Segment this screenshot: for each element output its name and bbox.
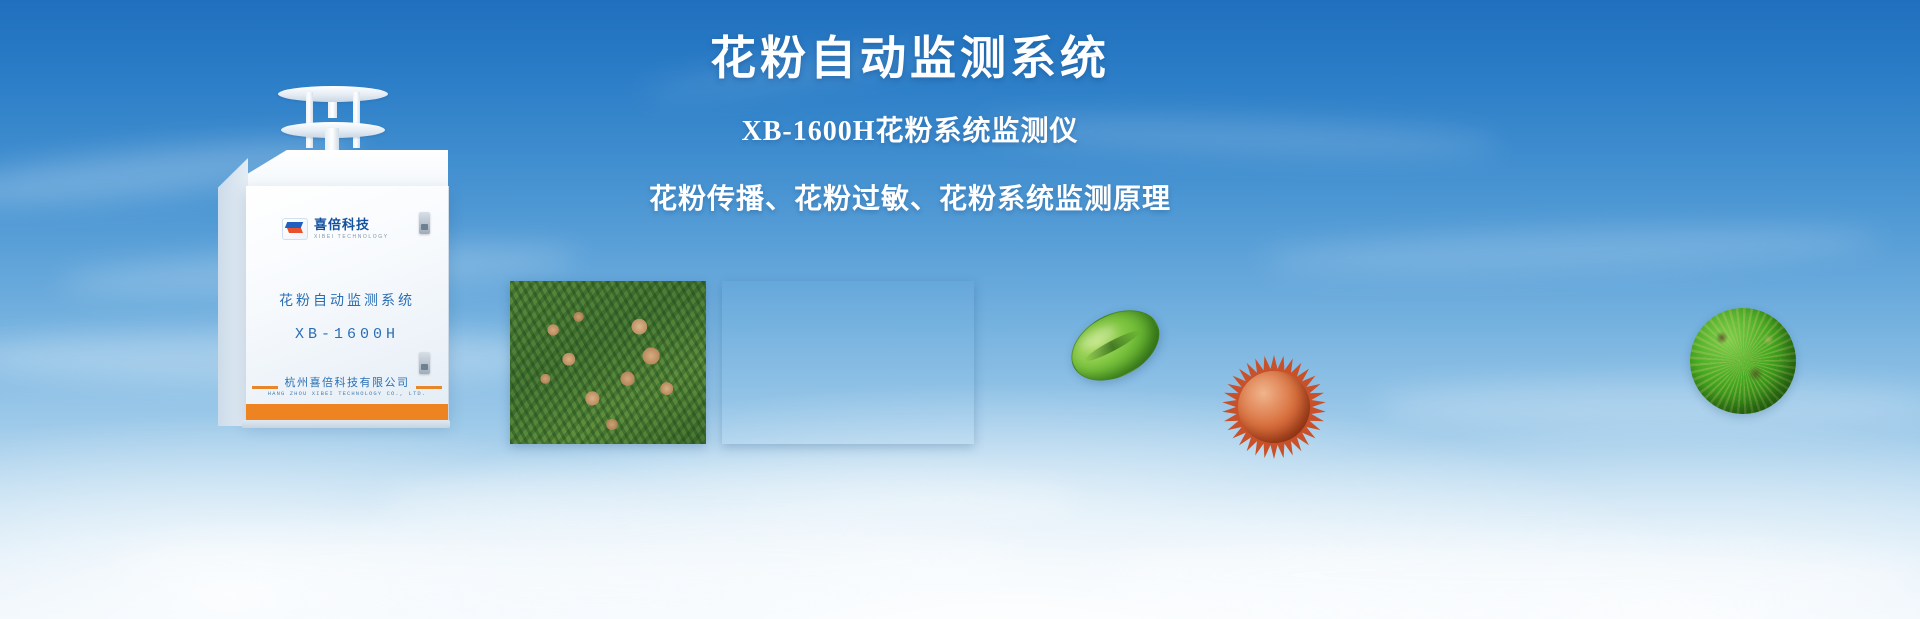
cloud-streak: [1100, 540, 1920, 610]
vent-post: [306, 92, 313, 148]
vent-center-nub: [328, 102, 337, 118]
door-handle-icon[interactable]: [419, 212, 430, 234]
brand-name-en: XIBEI TECHNOLOGY: [314, 234, 389, 240]
pollen-monitor-device: 喜倍科技 XIBEI TECHNOLOGY 花粉自动监测系统 XB-1600H …: [218, 82, 448, 430]
orange-accent-right: [416, 386, 442, 389]
page-title: 花粉自动监测系统: [600, 30, 1220, 88]
cabinet-side-face: [218, 158, 248, 426]
xibei-logo-icon: [282, 218, 308, 240]
topics-subtitle: 花粉传播、花粉过敏、花粉系统监测原理: [600, 182, 1220, 218]
red-spiky-pollen-grain: [1222, 355, 1326, 459]
catkin-pollen-photo: [722, 281, 974, 444]
device-model-label: XB-1600H: [246, 326, 448, 343]
vent-disc-top: [278, 86, 388, 102]
door-handle-icon[interactable]: [419, 352, 430, 374]
cloud-streak: [120, 520, 1020, 600]
device-product-name: 花粉自动监测系统: [246, 290, 448, 310]
product-model-subtitle: XB-1600H花粉系统监测仪: [600, 114, 1220, 150]
cabinet-front-panel: 喜倍科技 XIBEI TECHNOLOGY 花粉自动监测系统 XB-1600H …: [246, 186, 449, 422]
cloud-streak: [1259, 219, 1880, 281]
air-intake-vent-icon: [278, 82, 388, 154]
cloud-streak: [380, 470, 1080, 530]
cabinet-top-face: [224, 150, 448, 188]
cedar-pollen-cones-photo: [510, 281, 706, 444]
brand-logo: 喜倍科技 XIBEI TECHNOLOGY: [282, 218, 389, 240]
vent-post: [353, 92, 360, 148]
cabinet-base: [242, 420, 450, 428]
pollen-spike: [1270, 443, 1278, 459]
green-elongated-pollen-grain: [1059, 297, 1168, 393]
device-company-en: HANG ZHOU XIBEI TECHNOLOGY CO., LTD.: [246, 390, 448, 397]
banner-text-block: 花粉自动监测系统 XB-1600H花粉系统监测仪 花粉传播、花粉过敏、花粉系统监…: [600, 30, 1220, 218]
brand-name-cn: 喜倍科技: [314, 218, 389, 232]
green-mossy-pollen-grain: [1690, 308, 1796, 414]
cloud-streak: [1380, 380, 1920, 430]
pollen-spike: [1222, 406, 1239, 415]
pollen-monitoring-banner: 花粉自动监测系统 XB-1600H花粉系统监测仪 花粉传播、花粉过敏、花粉系统监…: [0, 0, 1920, 619]
orange-accent-left: [252, 386, 278, 389]
